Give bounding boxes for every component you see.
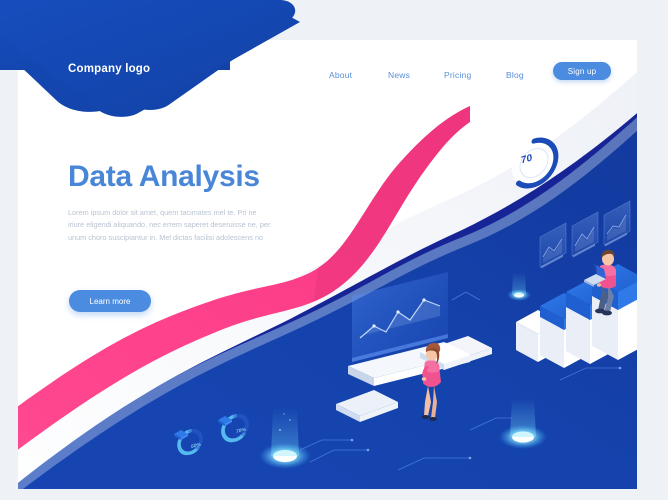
learn-more-button[interactable]: Learn more — [69, 290, 151, 312]
sign-up-button[interactable]: Sign up — [553, 62, 611, 80]
hero-landing-page: Company logo About News Pricing Blog Sig… — [0, 0, 668, 500]
company-logo[interactable]: Company logo — [68, 63, 150, 75]
page-title: Data Analysis — [68, 160, 260, 194]
nav-link-about[interactable]: About — [329, 70, 352, 80]
hero-paragraph: Lorem ipsum dolor sit amet, quem tacimat… — [68, 207, 273, 244]
nav-link-pricing[interactable]: Pricing — [444, 70, 471, 80]
nav-link-blog[interactable]: Blog — [506, 70, 524, 80]
nav-link-news[interactable]: News — [388, 70, 410, 80]
